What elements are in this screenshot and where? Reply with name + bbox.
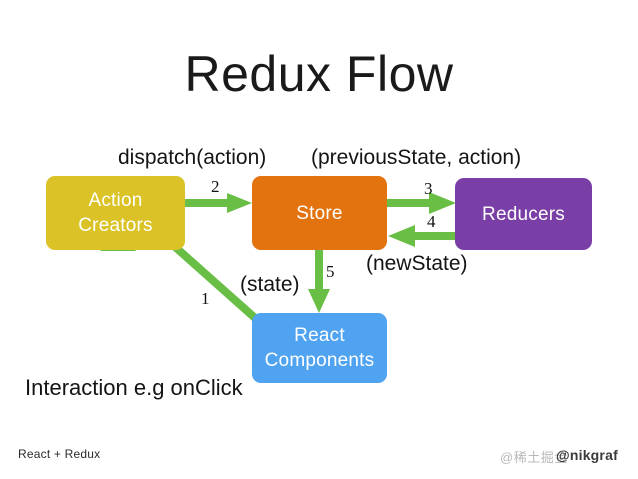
slide-canvas: Redux Flow (0, 0, 638, 479)
node-reducers[interactable]: Reducers (455, 178, 592, 250)
arrow-state (308, 250, 330, 313)
node-action-creators[interactable]: Action Creators (46, 176, 185, 250)
node-store-label: Store (296, 201, 342, 226)
node-react-components[interactable]: React Components (252, 313, 387, 383)
step-number-1: 1 (201, 290, 210, 308)
edge-label-interaction: Interaction e.g onClick (25, 376, 243, 400)
edge-label-previous-state: (previousState, action) (311, 146, 521, 170)
edge-label-state: (state) (240, 273, 300, 297)
node-store[interactable]: Store (252, 176, 387, 250)
arrow-previous-state (387, 192, 456, 214)
step-number-2: 2 (211, 178, 220, 196)
watermark-author: @nikgraf (556, 447, 618, 463)
node-action-creators-label: Action Creators (78, 188, 152, 238)
node-reducers-label: Reducers (482, 202, 565, 227)
footer-deck-title: React + Redux (18, 447, 100, 461)
arrow-new-state (388, 225, 455, 247)
step-number-4: 4 (427, 213, 436, 231)
step-number-3: 3 (424, 180, 433, 198)
node-react-components-label: React Components (265, 323, 375, 373)
arrow-dispatch-action (185, 193, 252, 213)
edge-label-new-state: (newState) (366, 252, 468, 276)
page-title: Redux Flow (0, 44, 638, 104)
step-number-5: 5 (326, 263, 335, 281)
edge-label-dispatch: dispatch(action) (118, 146, 266, 170)
